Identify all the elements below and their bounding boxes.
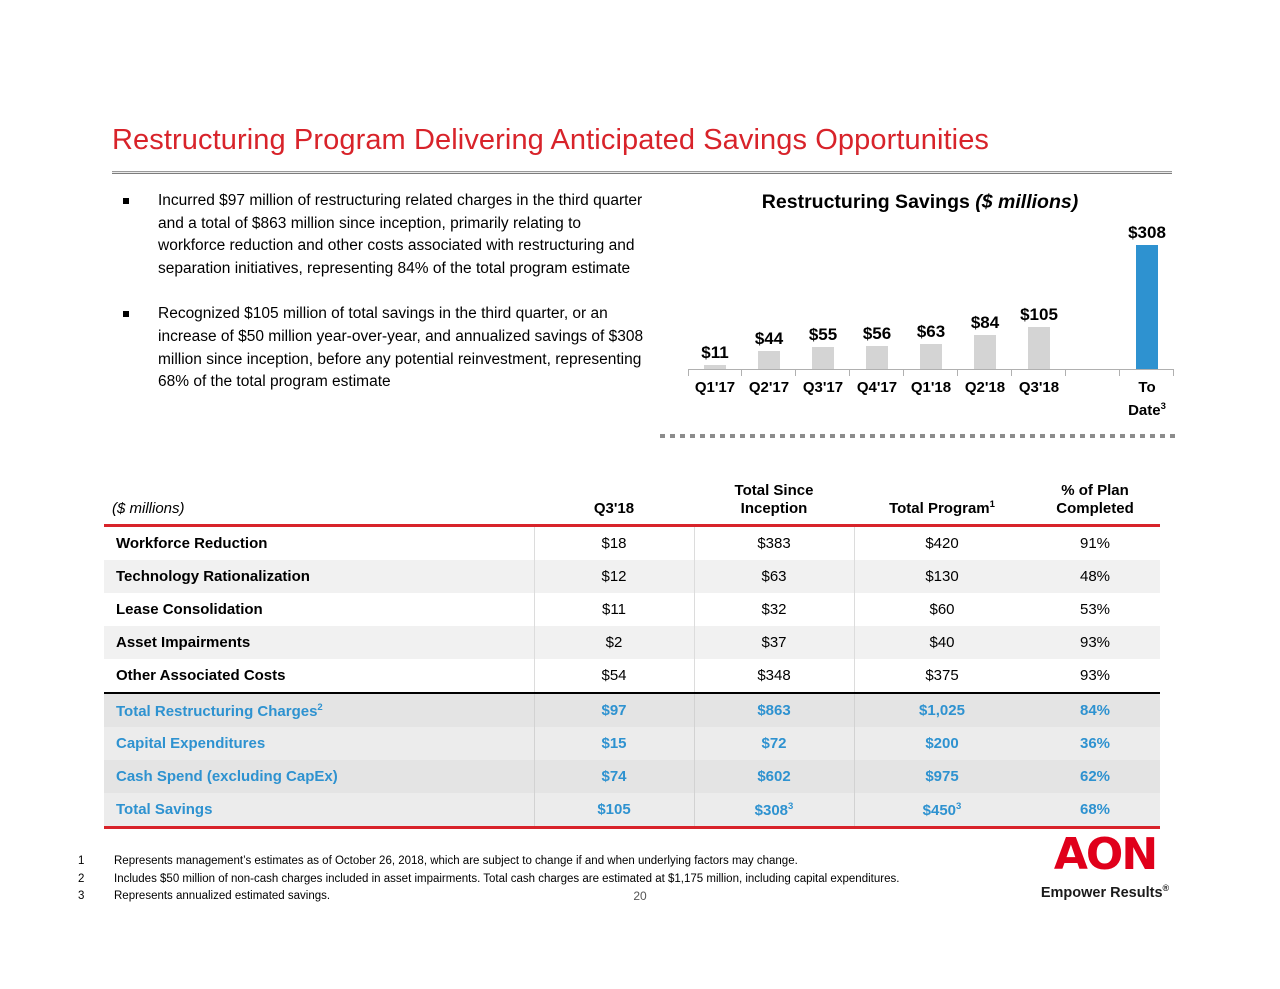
chart-title-main: Restructuring Savings [762, 191, 970, 213]
row-q318: $12 [534, 560, 694, 593]
chart-x-labels: Q1'17 Q2'17 Q3'17 Q4'17 Q1'18 Q2'18 Q3'1… [688, 378, 1174, 420]
x-tick-label: Q3'18 [1012, 378, 1066, 420]
row-inception: $348 [694, 659, 854, 692]
footnote-marker-3: 3 [788, 801, 793, 812]
page-title: Restructuring Program Delivering Anticip… [112, 124, 1172, 157]
footnote-number: 2 [78, 871, 114, 889]
row-program: $1,025 [854, 694, 1030, 727]
bar-q118: $63 [920, 344, 942, 369]
table-row-total: Total Restructuring Charges2 $97 $863 $1… [104, 694, 1160, 727]
row-q318: $105 [534, 793, 694, 826]
row-pct: 36% [1030, 727, 1160, 760]
row-pct: 48% [1030, 560, 1160, 593]
bar-slot-empty [1066, 236, 1120, 369]
row-q318: $15 [534, 727, 694, 760]
bullet-square-icon [123, 198, 129, 204]
bar-slot: $63 [904, 236, 958, 369]
bar-q417: $56 [866, 346, 888, 369]
row-program: $375 [854, 659, 1030, 692]
chart-plot-area: $11 $44 $55 $56 $63 $84 $105 $308 [688, 236, 1174, 369]
row-q318: $54 [534, 659, 694, 692]
aon-tagline-text: Empower Results [1041, 885, 1163, 901]
axis-tick [1120, 369, 1174, 376]
column-header-inception: Total SinceInception [694, 466, 854, 524]
hdr-line1: Total Program [889, 500, 990, 517]
bar-q317: $55 [812, 347, 834, 369]
row-inception: $863 [694, 694, 854, 727]
column-header-total-program: Total Program1 [854, 466, 1030, 524]
hdr-line1: Total Since [735, 482, 814, 499]
table-row: Lease Consolidation $11 $32 $60 53% [104, 593, 1160, 626]
restructuring-table: ($ millions) Q3'18 Total SinceInception … [104, 466, 1160, 829]
row-q318: $18 [534, 527, 694, 560]
aon-tagline: Empower Results® [1035, 879, 1175, 902]
table-row: Technology Rationalization $12 $63 $130 … [104, 560, 1160, 593]
bar-slot: $44 [742, 236, 796, 369]
x-tick-label: Q3'17 [796, 378, 850, 420]
bar-value-label: $44 [755, 329, 783, 348]
bar-value-label: $105 [1020, 305, 1058, 324]
footnote-marker-3: 3 [1161, 401, 1166, 412]
row-label: Technology Rationalization [104, 560, 534, 593]
table-header-row: ($ millions) Q3'18 Total SinceInception … [104, 466, 1160, 524]
chart-title: Restructuring Savings ($ millions) [660, 190, 1180, 214]
column-header-q318: Q3'18 [534, 466, 694, 524]
bar-slot: $105 [1012, 236, 1066, 369]
footnote: 2 Includes $50 million of non-cash charg… [78, 871, 1038, 889]
row-program: $60 [854, 593, 1030, 626]
row-inception: $602 [694, 760, 854, 793]
row-q318: $74 [534, 760, 694, 793]
axis-tick [688, 369, 742, 376]
table-row-total: Cash Spend (excluding CapEx) $74 $602 $9… [104, 760, 1160, 793]
row-inception: $3083 [694, 793, 854, 826]
hdr-line2: Completed [1056, 500, 1134, 517]
row-inception-text: $308 [755, 802, 788, 819]
column-header-units: ($ millions) [104, 466, 534, 524]
row-pct: 62% [1030, 760, 1160, 793]
row-program: $130 [854, 560, 1030, 593]
row-q318: $2 [534, 626, 694, 659]
row-label: Total Restructuring Charges2 [104, 694, 534, 727]
row-pct: 84% [1030, 694, 1160, 727]
table-row: Other Associated Costs $54 $348 $375 93% [104, 659, 1160, 692]
row-inception: $383 [694, 527, 854, 560]
chart-bars: $11 $44 $55 $56 $63 $84 $105 $308 [688, 236, 1174, 369]
axis-tick [796, 369, 850, 376]
row-program: $975 [854, 760, 1030, 793]
footnote-text: Represents management’s estimates as of … [114, 853, 798, 871]
row-pct: 91% [1030, 527, 1160, 560]
row-inception: $32 [694, 593, 854, 626]
row-program: $200 [854, 727, 1030, 760]
row-pct: 93% [1030, 659, 1160, 692]
row-label: Lease Consolidation [104, 593, 534, 626]
bar-q318: $105 [1028, 327, 1050, 369]
registered-mark-icon: ® [1163, 883, 1170, 893]
bar-q218: $84 [974, 335, 996, 369]
bullet-list: Incurred $97 million of restructuring re… [112, 190, 652, 394]
table-footer-rule [104, 826, 1160, 829]
row-inception: $37 [694, 626, 854, 659]
table-row-total: Capital Expenditures $15 $72 $200 36% [104, 727, 1160, 760]
aon-logo: AON Empower Results® [1035, 832, 1175, 902]
row-program: $4503 [854, 793, 1030, 826]
row-label: Total Savings [104, 793, 534, 826]
row-program: $40 [854, 626, 1030, 659]
axis-tick [958, 369, 1012, 376]
table-row: Workforce Reduction $18 $383 $420 91% [104, 527, 1160, 560]
bar-q217: $44 [758, 351, 780, 369]
bar-slot: $11 [688, 236, 742, 369]
bar-slot: $56 [850, 236, 904, 369]
footnote-marker-2: 2 [317, 702, 322, 713]
footnote-marker-3: 3 [956, 801, 961, 812]
title-divider [112, 171, 1172, 174]
bar-to-date: $308 [1136, 245, 1158, 369]
bar-value-label: $308 [1128, 223, 1166, 242]
table-row-total: Total Savings $105 $3083 $4503 68% [104, 793, 1160, 826]
list-item: Incurred $97 million of restructuring re… [112, 190, 652, 280]
chart-axis-ticks [688, 369, 1174, 376]
row-pct: 53% [1030, 593, 1160, 626]
footnote-marker-1: 1 [990, 499, 995, 510]
footnote-text: Includes $50 million of non-cash charges… [114, 871, 899, 889]
bar-slot: $84 [958, 236, 1012, 369]
bar-slot: $308 [1120, 236, 1174, 369]
list-item: Recognized $105 million of total savings… [112, 303, 652, 393]
restructuring-savings-chart: Restructuring Savings ($ millions) $11 $… [660, 190, 1180, 440]
chart-dotted-divider [660, 434, 1180, 438]
row-pct: 68% [1030, 793, 1160, 826]
row-label: Other Associated Costs [104, 659, 534, 692]
bar-value-label: $84 [971, 313, 999, 332]
x-tick-label: Q1'17 [688, 378, 742, 420]
bar-value-label: $11 [701, 343, 728, 362]
row-label: Cash Spend (excluding CapEx) [104, 760, 534, 793]
row-inception: $72 [694, 727, 854, 760]
row-label: Capital Expenditures [104, 727, 534, 760]
axis-tick [904, 369, 958, 376]
bullet-text: Incurred $97 million of restructuring re… [158, 192, 642, 277]
axis-tick [1066, 369, 1120, 376]
row-program-text: $450 [923, 802, 956, 819]
bar-slot: $55 [796, 236, 850, 369]
bar-value-label: $63 [917, 322, 945, 341]
x-tick-label: Q2'18 [958, 378, 1012, 420]
bar-value-label: $56 [863, 324, 891, 343]
x-tick-label-to-date: ToDate3 [1120, 378, 1174, 420]
x-tick-label-empty [1066, 378, 1120, 420]
axis-tick [1012, 369, 1066, 376]
x-tick-label: Q4'17 [850, 378, 904, 420]
axis-tick [850, 369, 904, 376]
chart-title-units: ($ millions) [975, 191, 1078, 213]
hdr-line2: Inception [741, 500, 808, 517]
hdr-line1: % of Plan [1061, 482, 1129, 499]
table-row: Asset Impairments $2 $37 $40 93% [104, 626, 1160, 659]
bar-value-label: $55 [809, 325, 837, 344]
row-q318: $97 [534, 694, 694, 727]
row-program: $420 [854, 527, 1030, 560]
axis-tick [742, 369, 796, 376]
x-tick-label: Q2'17 [742, 378, 796, 420]
x-tick-label: Q1'18 [904, 378, 958, 420]
aon-wordmark-icon: AON [1035, 832, 1175, 878]
footnote-number: 1 [78, 853, 114, 871]
row-inception: $63 [694, 560, 854, 593]
row-label: Workforce Reduction [104, 527, 534, 560]
row-q318: $11 [534, 593, 694, 626]
footnote: 1 Represents management’s estimates as o… [78, 853, 1038, 871]
bullet-text: Recognized $105 million of total savings… [158, 305, 643, 390]
bullet-square-icon [123, 311, 129, 317]
row-label-text: Total Restructuring Charges [116, 703, 317, 720]
column-header-pct-complete: % of PlanCompleted [1030, 466, 1160, 524]
row-label: Asset Impairments [104, 626, 534, 659]
row-pct: 93% [1030, 626, 1160, 659]
